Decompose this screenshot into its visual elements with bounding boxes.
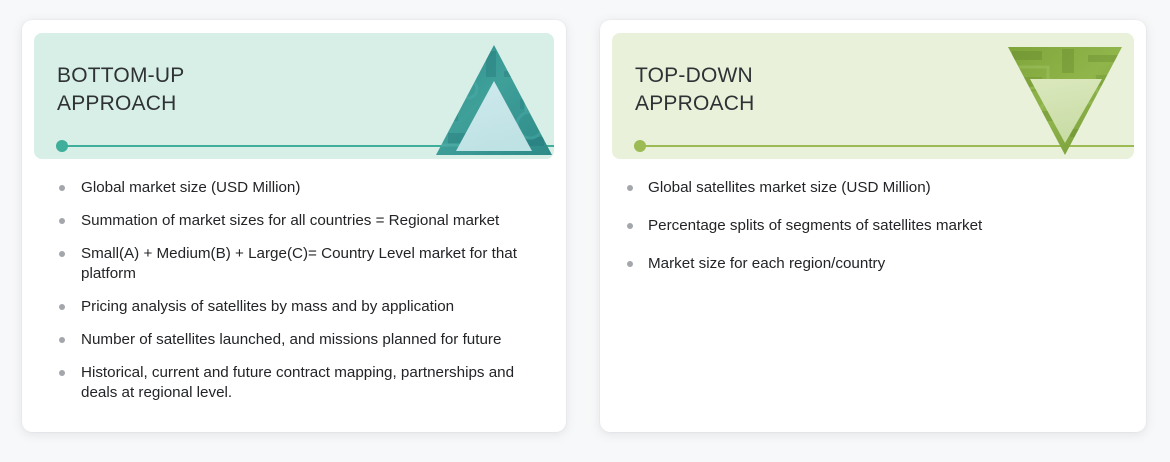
list-item: Percentage splits of segments of satelli… xyxy=(600,216,1128,236)
triangle-down-icon xyxy=(1004,33,1126,159)
list-item: Global satellites market size (USD Milli… xyxy=(600,178,1128,198)
card-title-bottom-up: BOTTOM-UP APPROACH xyxy=(57,62,184,118)
list-item: Historical, current and future contract … xyxy=(22,363,548,403)
list-item: Market size for each region/country xyxy=(600,254,1128,274)
card-header-bottom-up: BOTTOM-UP APPROACH xyxy=(34,33,554,159)
card-title-top-down: TOP-DOWN APPROACH xyxy=(635,62,754,118)
accent-dot-top-down xyxy=(634,140,646,152)
bullet-list-bottom-up: Global market size (USD Million) Summati… xyxy=(22,178,566,416)
triangle-up-icon xyxy=(434,41,554,159)
card-top-down: TOP-DOWN APPROACH xyxy=(600,20,1146,432)
approach-comparison-panel: BOTTOM-UP APPROACH xyxy=(0,0,1170,462)
list-item: Number of satellites launched, and missi… xyxy=(22,330,548,350)
list-item: Pricing analysis of satellites by mass a… xyxy=(22,297,548,317)
accent-dot-bottom-up xyxy=(56,140,68,152)
bullet-list-top-down: Global satellites market size (USD Milli… xyxy=(600,178,1146,292)
list-item: Small(A) + Medium(B) + Large(C)= Country… xyxy=(22,244,548,284)
card-bottom-up: BOTTOM-UP APPROACH xyxy=(22,20,566,432)
card-header-top-down: TOP-DOWN APPROACH xyxy=(612,33,1134,159)
list-item: Summation of market sizes for all countr… xyxy=(22,211,548,231)
list-item: Global market size (USD Million) xyxy=(22,178,548,198)
